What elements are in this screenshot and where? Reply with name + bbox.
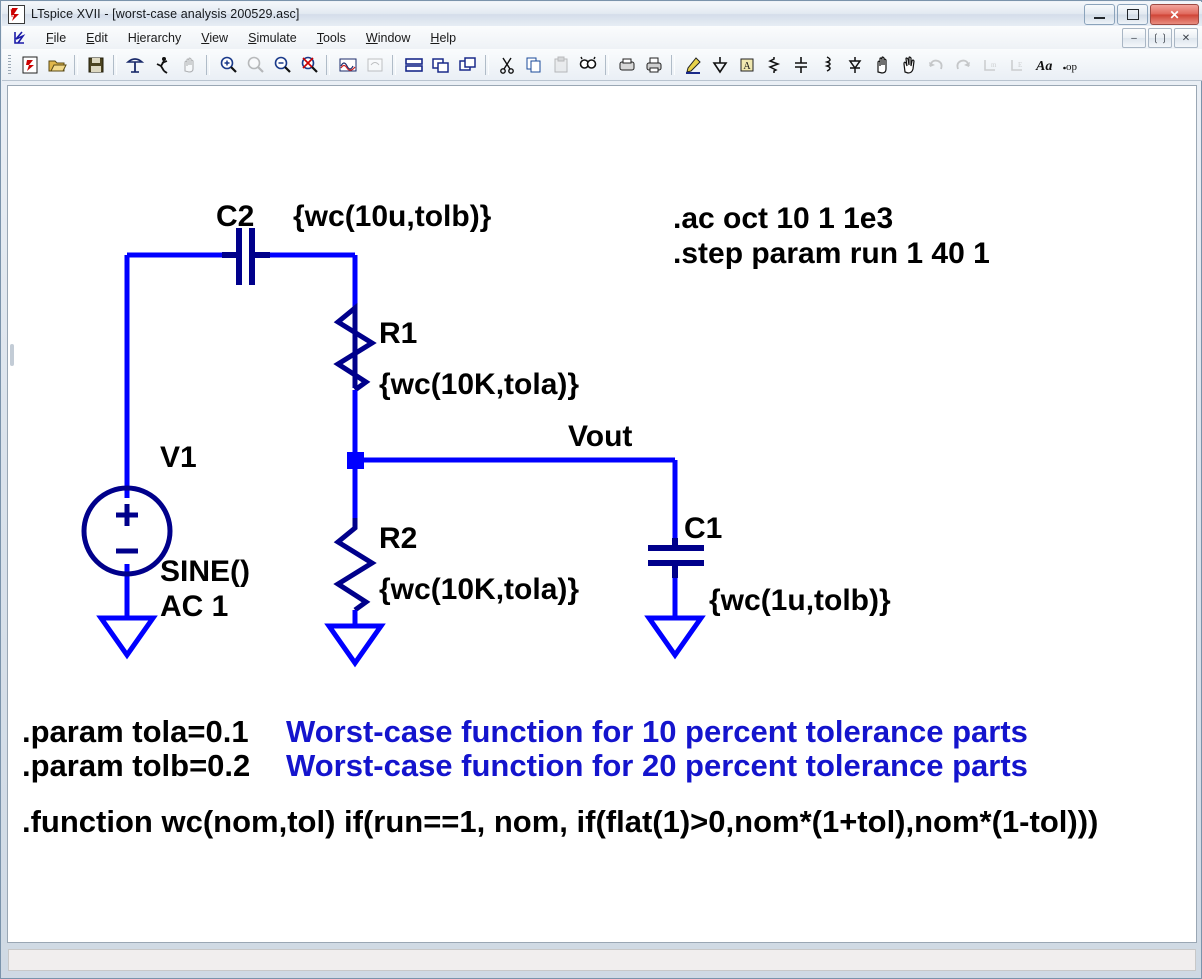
ground-symbol-c1 bbox=[649, 618, 701, 655]
ground-symbol-r2 bbox=[329, 626, 381, 663]
drag-object-icon[interactable] bbox=[896, 52, 921, 77]
redo-icon bbox=[950, 52, 975, 77]
ground-symbol-v1 bbox=[101, 618, 153, 655]
window-frame: \ LTspice XVII - [worst-case analysis 20… bbox=[0, 0, 1202, 979]
window-controls: ✕ bbox=[1084, 4, 1199, 25]
spice-directive-param-tolb[interactable]: .param tolb=0.2 bbox=[22, 750, 250, 781]
spice-directive-ac[interactable]: .ac oct 10 1 1e3 bbox=[673, 204, 893, 234]
zoom-area-icon bbox=[242, 52, 267, 77]
close-button[interactable]: ✕ bbox=[1150, 4, 1199, 25]
child-close-button[interactable]: ✕ bbox=[1174, 28, 1198, 48]
ltspice-logo-icon: \ bbox=[7, 5, 25, 23]
zoom-in-icon[interactable] bbox=[215, 52, 240, 77]
toolbar-separator bbox=[326, 55, 330, 75]
print-icon[interactable] bbox=[641, 52, 666, 77]
svg-text:A: A bbox=[743, 61, 751, 72]
menu-item-edit[interactable]: Edit bbox=[76, 29, 118, 47]
rotate-icon: m bbox=[977, 52, 1002, 77]
menu-item-view[interactable]: View bbox=[191, 29, 238, 47]
new-schematic-icon[interactable] bbox=[17, 52, 42, 77]
component-value-v1-sine[interactable]: SINE() bbox=[160, 557, 250, 587]
toolbar-separator bbox=[113, 55, 117, 75]
zoom-full-extents-icon[interactable] bbox=[296, 52, 321, 77]
place-ground-icon[interactable] bbox=[707, 52, 732, 77]
spice-netlist-icon bbox=[362, 52, 387, 77]
child-restore-button[interactable]: ❲❳ bbox=[1148, 28, 1172, 48]
component-value-v1-ac[interactable]: AC 1 bbox=[160, 592, 228, 622]
toolbar-separator bbox=[485, 55, 489, 75]
menu-item-tools[interactable]: Tools bbox=[307, 29, 356, 47]
menu-item-file[interactable]: File bbox=[36, 29, 76, 47]
undo-icon bbox=[923, 52, 948, 77]
window-title: LTspice XVII - [worst-case analysis 2005… bbox=[31, 7, 299, 21]
comment-tolb[interactable]: Worst-case function for 20 percent toler… bbox=[286, 750, 1028, 781]
menu-item-window[interactable]: Window bbox=[356, 29, 420, 47]
child-minimize-button[interactable]: – bbox=[1122, 28, 1146, 48]
component-ref-r2[interactable]: R2 bbox=[379, 524, 417, 554]
component-value-r1[interactable]: {wc(10K,tola)} bbox=[379, 370, 579, 400]
main-toolbar: A bbox=[2, 49, 1202, 81]
draw-wire-icon[interactable] bbox=[680, 52, 705, 77]
spice-directive-function-wc[interactable]: .function wc(nom,tol) if(run==1, nom, if… bbox=[22, 806, 1098, 837]
waveform-view-icon[interactable] bbox=[335, 52, 360, 77]
maximize-button[interactable] bbox=[1117, 4, 1148, 25]
place-spice-directive-icon[interactable]: op bbox=[1058, 52, 1083, 77]
title-bar: \ LTspice XVII - [worst-case analysis 20… bbox=[2, 2, 1202, 26]
minimize-button[interactable] bbox=[1084, 4, 1115, 25]
zoom-out-icon[interactable] bbox=[269, 52, 294, 77]
run-simulation-icon[interactable] bbox=[149, 52, 174, 77]
schematic-drawing: C2 {wc(10u,tolb)} R1 {wc(10K,tola)} R2 {… bbox=[8, 86, 1196, 942]
junction-dot-vout bbox=[347, 452, 364, 469]
spice-directive-step[interactable]: .step param run 1 40 1 bbox=[673, 239, 990, 269]
print-preview-icon[interactable] bbox=[614, 52, 639, 77]
component-ref-v1[interactable]: V1 bbox=[160, 443, 197, 473]
menu-item-simulate[interactable]: Simulate bbox=[238, 29, 307, 47]
menu-bar: File Edit Hierarchy View Simulate Tools … bbox=[2, 26, 1202, 50]
toolbar-grip[interactable] bbox=[8, 55, 11, 75]
place-label-icon[interactable]: A bbox=[734, 52, 759, 77]
halt-simulation-icon bbox=[176, 52, 201, 77]
place-capacitor-icon[interactable] bbox=[788, 52, 813, 77]
open-file-icon[interactable] bbox=[44, 52, 69, 77]
copy-icon[interactable] bbox=[521, 52, 546, 77]
ltspice-application-window: \ LTspice XVII - [worst-case analysis 20… bbox=[0, 0, 1202, 979]
toolbar-separator bbox=[671, 55, 675, 75]
control-panel-icon[interactable] bbox=[122, 52, 147, 77]
component-value-c2[interactable]: {wc(10u,tolb)} bbox=[293, 202, 491, 232]
tile-horizontally-icon[interactable] bbox=[401, 52, 426, 77]
cut-icon[interactable] bbox=[494, 52, 519, 77]
status-bar bbox=[8, 949, 1196, 971]
capacitor-c2-symbol bbox=[222, 228, 270, 285]
toolbar-separator bbox=[392, 55, 396, 75]
canvas-scroll-marker[interactable] bbox=[10, 344, 14, 366]
resistor-r2-symbol bbox=[338, 518, 372, 610]
net-label-vout[interactable]: Vout bbox=[568, 422, 632, 452]
save-file-icon[interactable] bbox=[83, 52, 108, 77]
component-value-c1[interactable]: {wc(1u,tolb)} bbox=[709, 586, 891, 616]
paste-icon bbox=[548, 52, 573, 77]
svg-text:m: m bbox=[991, 61, 997, 69]
menu-item-help[interactable]: Help bbox=[420, 29, 466, 47]
component-ref-r1[interactable]: R1 bbox=[379, 319, 417, 349]
toolbar-separator bbox=[206, 55, 210, 75]
toolbar-separator bbox=[74, 55, 78, 75]
place-resistor-icon[interactable] bbox=[761, 52, 786, 77]
toolbar-separator bbox=[605, 55, 609, 75]
ltspice-small-logo-icon bbox=[10, 29, 32, 47]
svg-text:Aa: Aa bbox=[1035, 59, 1052, 74]
svg-text:E: E bbox=[1018, 61, 1022, 69]
place-diode-icon[interactable] bbox=[842, 52, 867, 77]
cascade-windows-icon[interactable] bbox=[455, 52, 480, 77]
place-inductor-icon[interactable] bbox=[815, 52, 840, 77]
component-value-r2[interactable]: {wc(10K,tola)} bbox=[379, 575, 579, 605]
svg-text:op: op bbox=[1066, 61, 1078, 73]
component-ref-c1[interactable]: C1 bbox=[684, 514, 722, 544]
spice-directive-param-tola[interactable]: .param tola=0.1 bbox=[22, 716, 249, 747]
find-icon[interactable] bbox=[575, 52, 600, 77]
resistor-r1-symbol bbox=[338, 308, 372, 390]
schematic-canvas[interactable]: C2 {wc(10u,tolb)} R1 {wc(10K,tola)} R2 {… bbox=[7, 85, 1197, 943]
component-ref-c2[interactable]: C2 bbox=[216, 202, 254, 232]
voltage-source-v1-symbol bbox=[84, 488, 170, 574]
menu-item-hierarchy[interactable]: Hierarchy bbox=[118, 29, 192, 47]
mirror-icon: E bbox=[1004, 52, 1029, 77]
tile-vertically-icon[interactable] bbox=[428, 52, 453, 77]
mdi-child-controls: – ❲❳ ✕ bbox=[1122, 28, 1198, 48]
comment-tola[interactable]: Worst-case function for 10 percent toler… bbox=[286, 716, 1028, 747]
place-text-icon[interactable]: Aa bbox=[1031, 52, 1056, 77]
move-object-icon[interactable] bbox=[869, 52, 894, 77]
